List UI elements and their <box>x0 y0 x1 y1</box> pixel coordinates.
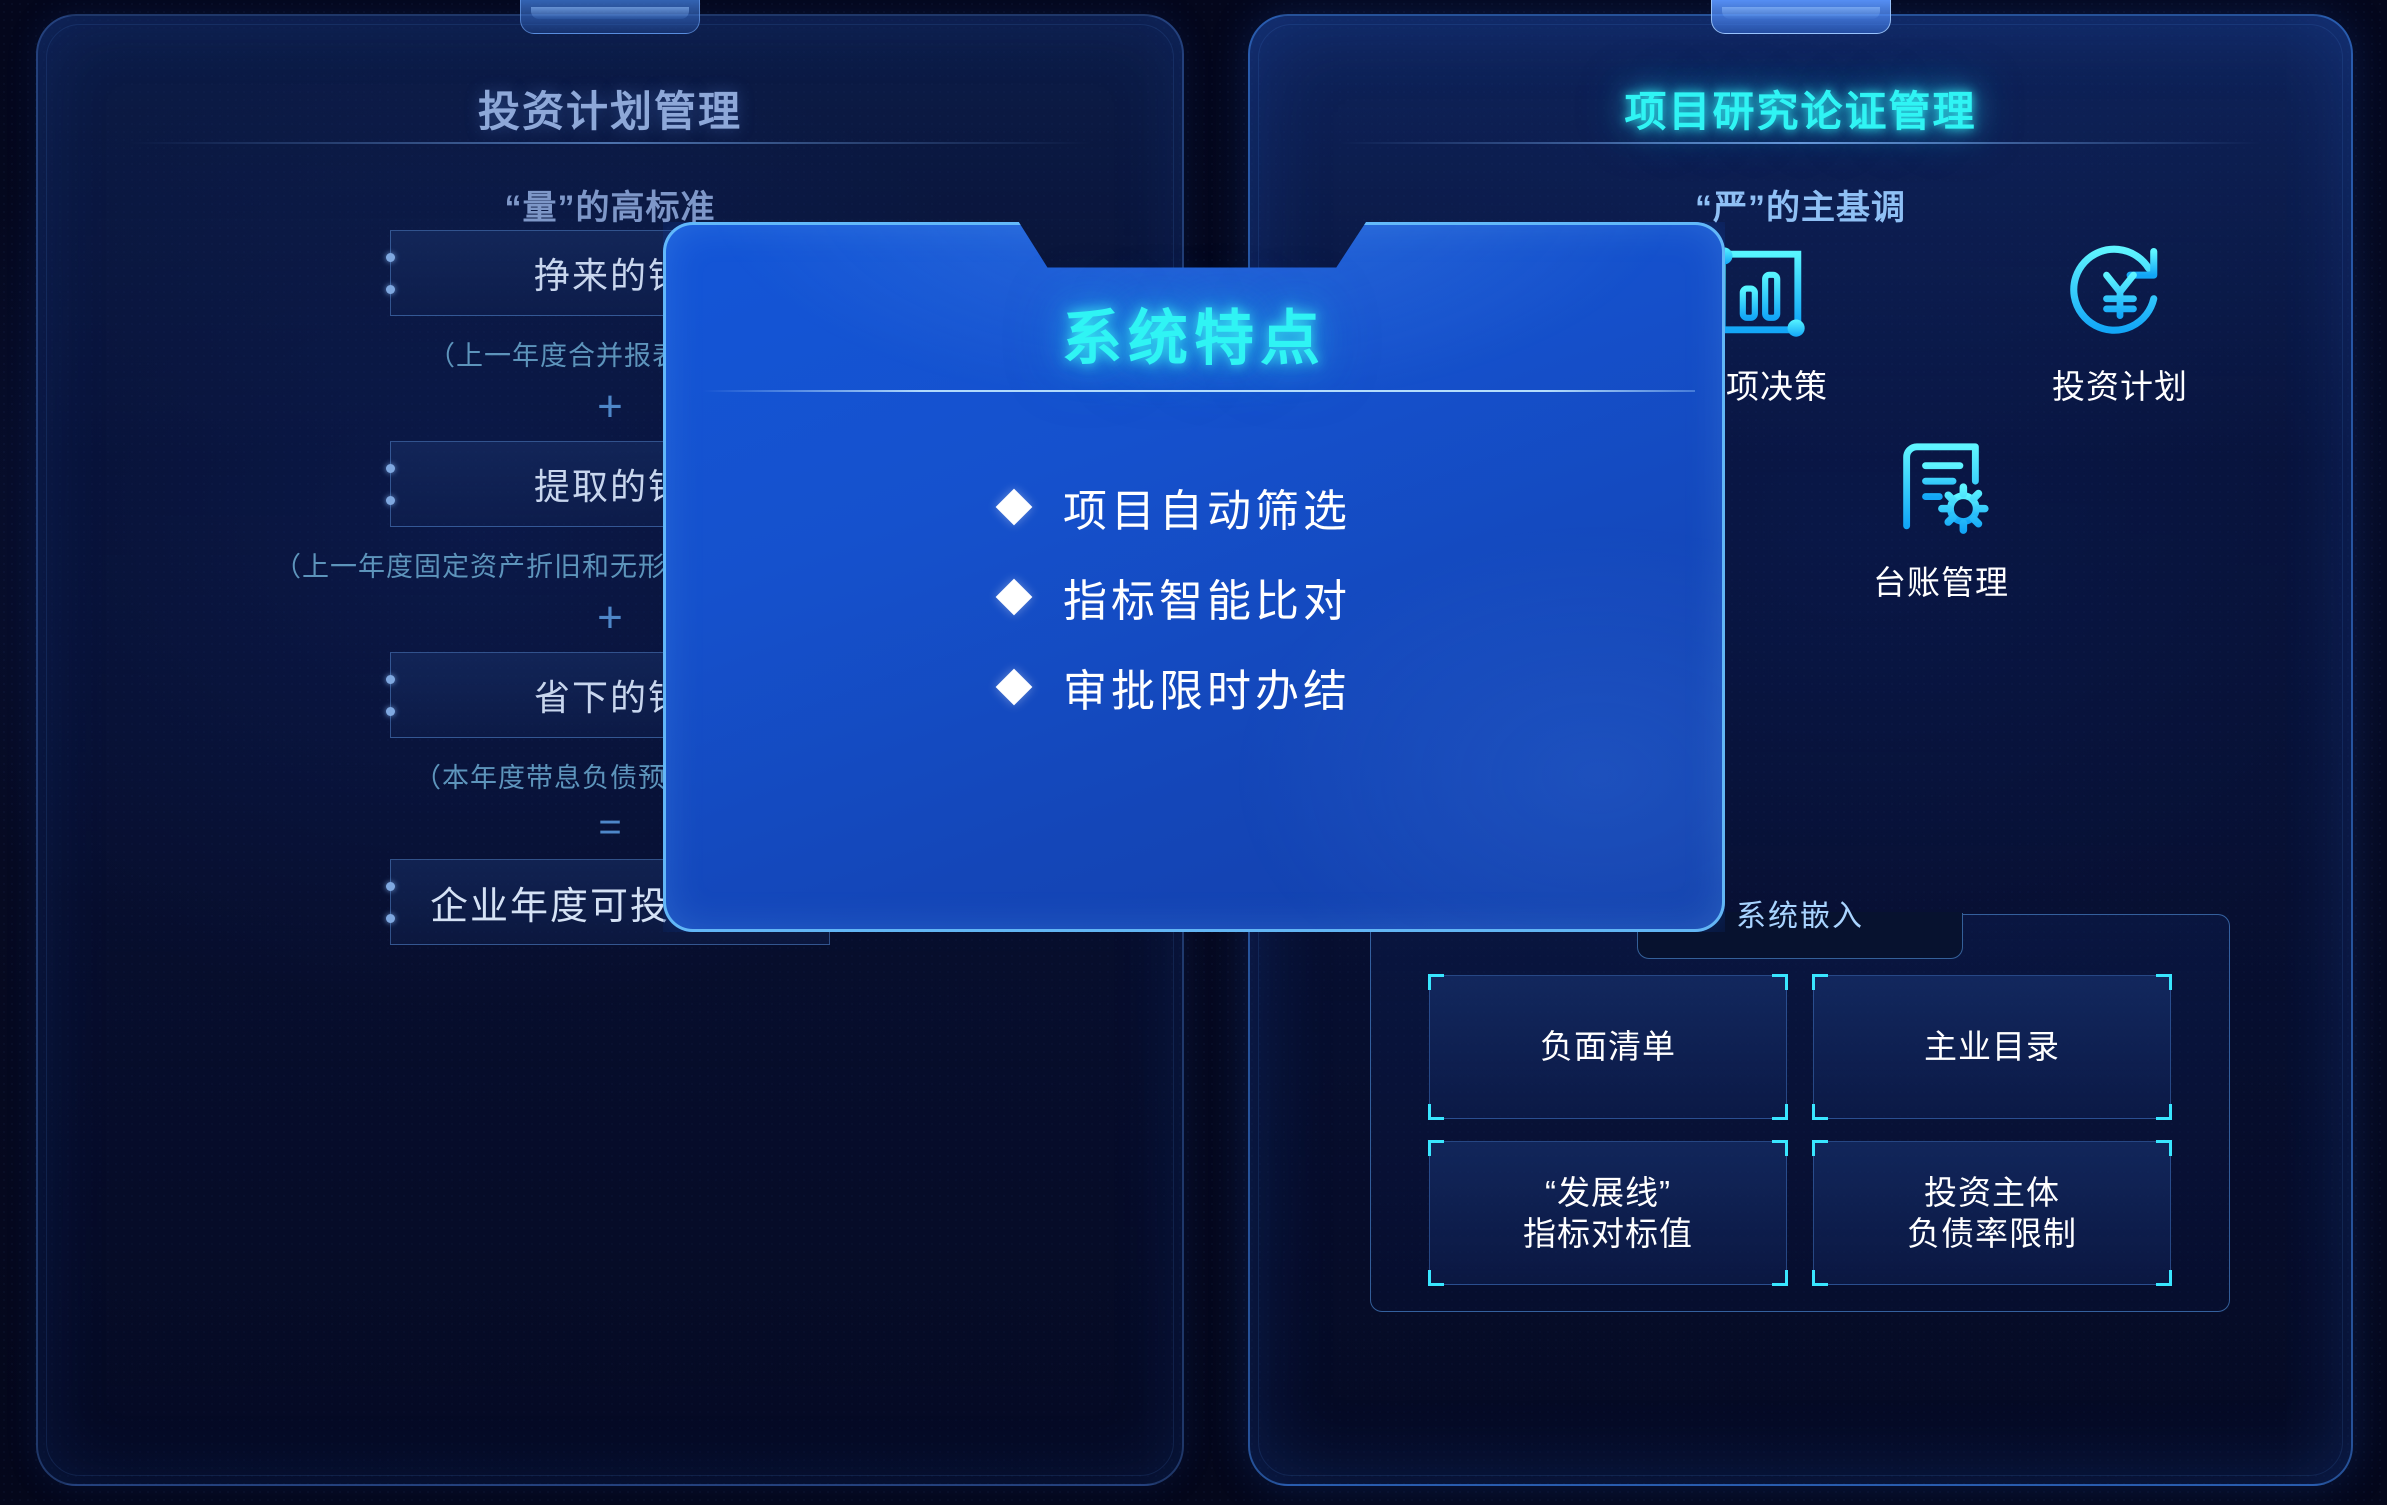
embed-box-label-line2: 指标对标值 <box>1523 1213 1693 1254</box>
corner-bracket-icon <box>2156 1270 2172 1286</box>
corner-bracket-icon <box>2156 1104 2172 1120</box>
corner-dot-icon <box>386 707 395 716</box>
page-title-right: 项目研究论证管理 <box>1250 78 2351 139</box>
module-label: 投资计划 <box>1995 360 2245 408</box>
list-item[interactable]: 项目自动筛选 <box>663 462 1725 552</box>
list-item-label: 审批限时办结 <box>1063 655 1351 719</box>
corner-bracket-icon <box>1812 1270 1828 1286</box>
corner-dot-icon <box>386 496 395 505</box>
corner-bracket-icon <box>1812 1140 1828 1156</box>
diamond-bullet-icon <box>996 489 1033 526</box>
panel-top-tab <box>520 0 700 34</box>
embed-box-label: 主业目录 <box>1924 1026 2060 1067</box>
document-gear-icon <box>1816 430 2066 546</box>
list-item-label: 项目自动筛选 <box>1063 475 1351 539</box>
panel-top-tab-inner <box>1722 7 1880 19</box>
corner-bracket-icon <box>1772 1104 1788 1120</box>
corner-dot-icon <box>386 675 395 684</box>
embed-box-development-line[interactable]: “发展线” 指标对标值 <box>1429 1141 1787 1285</box>
embed-box-negative-list[interactable]: 负面清单 <box>1429 975 1787 1119</box>
corner-bracket-icon <box>2156 974 2172 990</box>
corner-bracket-icon <box>1772 1140 1788 1156</box>
embed-box-label: 负面清单 <box>1540 1026 1676 1067</box>
popup-feature-list: 项目自动筛选 指标智能比对 审批限时办结 <box>663 462 1725 732</box>
corner-bracket-icon <box>1772 974 1788 990</box>
embed-box-label-line1: 投资主体 <box>1907 1172 2077 1213</box>
embed-box-main-business-catalog[interactable]: 主业目录 <box>1813 975 2171 1119</box>
corner-dot-icon <box>386 882 395 891</box>
panel-top-tab-inner <box>531 7 689 19</box>
list-item-label: 指标智能比对 <box>1063 565 1351 629</box>
yen-cycle-icon <box>1995 234 2245 350</box>
title-divider-left <box>128 142 1092 144</box>
corner-dot-icon <box>386 914 395 923</box>
corner-bracket-icon <box>1428 1140 1444 1156</box>
corner-bracket-icon <box>2156 1140 2172 1156</box>
corner-bracket-icon <box>1812 1104 1828 1120</box>
app-root: 投资计划管理 “量”的高标准 挣来的钱 （上一年度合并报表净利润） + 提取的钱… <box>0 0 2387 1505</box>
corner-bracket-icon <box>1772 1270 1788 1286</box>
module-label: 台账管理 <box>1816 556 2066 604</box>
list-item[interactable]: 指标智能比对 <box>663 552 1725 642</box>
corner-bracket-icon <box>1428 974 1444 990</box>
embed-box-label-line1: “发展线” <box>1523 1172 1693 1213</box>
corner-dot-icon <box>386 285 395 294</box>
diamond-bullet-icon <box>996 579 1033 616</box>
system-embed-grid: 负面清单 主业目录 “发展线” 指标对标值 <box>1429 975 2171 1285</box>
panel-top-tab <box>1711 0 1891 34</box>
corner-bracket-icon <box>1812 974 1828 990</box>
title-divider-right <box>1340 142 2261 144</box>
module-investment-plan[interactable]: 投资计划 <box>1995 234 2245 408</box>
system-embed-legend: 系统嵌入 <box>1710 891 1890 935</box>
popup-divider <box>703 390 1695 392</box>
corner-dot-icon <box>386 253 395 262</box>
corner-bracket-icon <box>1428 1104 1444 1120</box>
list-item[interactable]: 审批限时办结 <box>663 642 1725 732</box>
embed-box-investor-debt-limit[interactable]: 投资主体 负债率限制 <box>1813 1141 2171 1285</box>
corner-dot-icon <box>386 464 395 473</box>
corner-bracket-icon <box>1428 1270 1444 1286</box>
module-ledger-management[interactable]: 台账管理 <box>1816 430 2066 604</box>
diamond-bullet-icon <box>996 669 1033 706</box>
embed-box-label-line2: 负债率限制 <box>1907 1213 2077 1254</box>
system-features-popup[interactable]: 系统特点 项目自动筛选 指标智能比对 审批限时办结 <box>663 222 1725 932</box>
system-embed-group: 系统嵌入 负面清单 主业目录 <box>1370 914 2230 1312</box>
page-title-left: 投资计划管理 <box>38 78 1182 139</box>
popup-title: 系统特点 <box>663 290 1725 377</box>
